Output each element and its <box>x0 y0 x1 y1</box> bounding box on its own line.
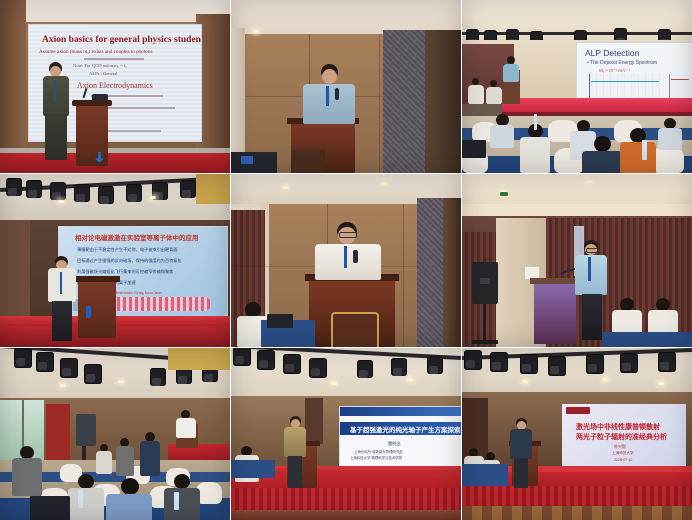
photo-top-left[interactable]: Axion basics for general physics student… <box>0 0 230 173</box>
slide-line-assume: Assume axion (mass mₐ) exists and couple… <box>39 49 153 55</box>
speaker <box>39 62 73 167</box>
slide-author: 陈兴毅 <box>614 444 626 450</box>
podium <box>534 282 576 344</box>
slide-line-note: Note: For QCD axion mₐ ≈ fₐ <box>73 63 127 68</box>
slide-affil-2: 上海科技大学·物理科学与技术学院 <box>350 455 402 460</box>
slide-bullet-3: 利用强磁场光缩短化飞行集束的可控缩窄传输和聚焦 <box>77 269 173 275</box>
podium <box>76 104 108 166</box>
slide-affil-1: 上海光机所·强场激光物理研究部 <box>354 449 403 454</box>
slide-bullet-2: 目标通过产生强强的反向磁场，保持的强度约为百特氛拉 <box>77 258 182 264</box>
photo-bottom-right[interactable]: 激光场中非线性康普顿散射 两光子粒子辐射的准经典分析 陈兴毅 上海师范大学 20… <box>462 348 692 520</box>
photo-middle-right[interactable] <box>462 174 692 347</box>
slide-date: 2025·07·12 <box>614 458 632 462</box>
photo-top-right[interactable]: ALP Detection • The Deposit Energy Spect… <box>462 0 692 173</box>
led-screen: 激光场中非线性康普顿散射 两光子粒子辐射的准经典分析 陈兴毅 上海师范大学 20… <box>562 404 686 466</box>
speaker <box>46 256 78 342</box>
photo-middle-left[interactable]: 相对论电磁激激在实验室等离子体中的应用 薄膜靶由于不稳定性产生不对称，电子被束引… <box>0 174 230 347</box>
slide-title-relativistic: 相对论电磁激激在实验室等离子体中的应用 <box>75 232 199 242</box>
university-logo <box>566 407 590 414</box>
speaker <box>176 410 196 438</box>
photo-collage: Axion basics for general physics student… <box>0 0 692 520</box>
photo-top-center[interactable] <box>231 0 461 173</box>
slide-bullet-1: 薄膜靶由于不稳定性产生不对称，电子被束引出靶背面 <box>77 247 178 253</box>
photo-bottom-center[interactable]: 基于超强激光的纯光轴子产生方案探索 董明达 上海光机所·强场激光物理研究部 上海… <box>231 348 461 520</box>
slide-title-line1: 激光场中非线性康普顿散射 <box>576 422 660 432</box>
speaker <box>283 416 307 488</box>
led-screen: 基于超强激光的纯光轴子产生方案探索 董明达 上海光机所·强场激光物理研究部 上海… <box>339 406 461 468</box>
slide-title-alp: ALP Detection <box>585 48 639 58</box>
slide-line-electrodynamics: Axion Electrodynamics <box>77 81 153 90</box>
slide-line-spectrum: • The Deposit Energy Spectrum <box>587 60 657 66</box>
slide-figure-label: Relativistic flying focus laser <box>115 290 162 295</box>
podium <box>78 280 116 338</box>
speaker <box>315 222 381 280</box>
slide-author: 董明达 <box>388 441 401 447</box>
slide-title-pure-light-axion: 基于超强激光的纯光轴子产生方案探索 <box>350 424 461 434</box>
slide-title-line2: 两光子粒子辐射的准经典分析 <box>576 432 667 442</box>
photo-bottom-left[interactable] <box>0 348 230 520</box>
speaker <box>301 64 357 124</box>
photo-middle-center[interactable] <box>231 174 461 347</box>
speaker <box>574 240 608 340</box>
slide-line-alps: ALPs : General <box>89 71 118 76</box>
slide-title-axion: Axion basics for general physics student… <box>42 35 202 45</box>
slide-affiliation: 上海师范大学 <box>612 451 634 456</box>
speaker <box>510 418 532 488</box>
